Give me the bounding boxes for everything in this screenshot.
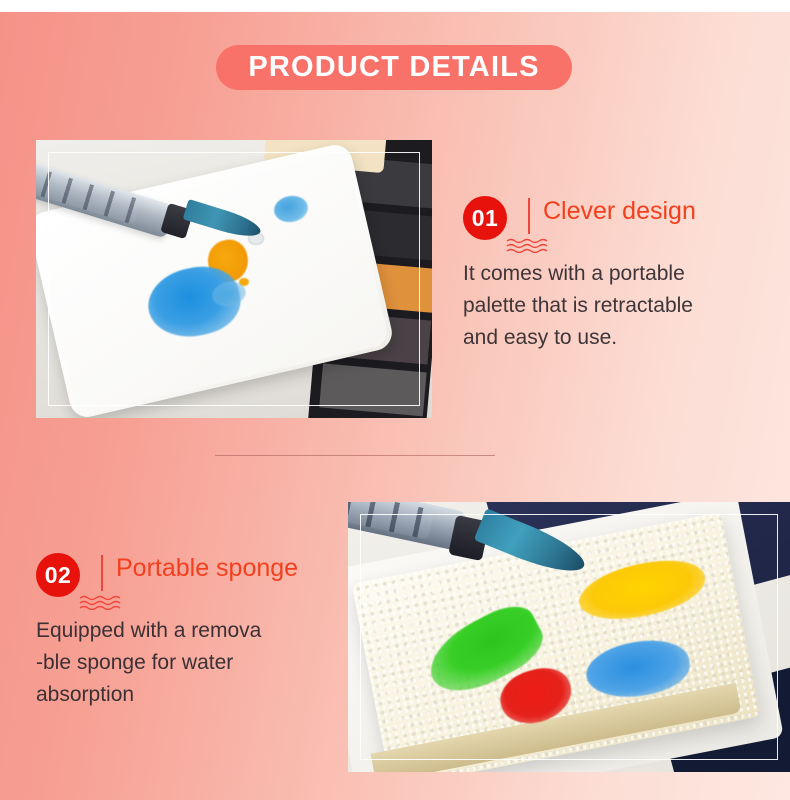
page-title-banner: PRODUCT DETAILS: [216, 45, 572, 90]
heading-divider-bar: [101, 555, 103, 591]
feature-number-badge-02: 02: [36, 553, 80, 597]
feature-body-line: palette that is retractable: [463, 290, 773, 322]
feature-block-01: 01 Clever design It comes with a portabl…: [463, 196, 773, 354]
feature-number-02: 02: [45, 562, 72, 589]
feature-body-02: Equipped with a remova -ble sponge for w…: [36, 615, 356, 711]
feature-number-badge-01: 01: [463, 196, 507, 240]
feature-body-line: and easy to use.: [463, 322, 773, 354]
feature-block-02: 02 Portable sponge Equipped with a remov…: [36, 553, 356, 711]
feature-body-line: It comes with a portable: [463, 258, 773, 290]
feature-title-02: Portable sponge: [116, 554, 298, 583]
sponge-photo: ater 美 術 固 体: [348, 502, 790, 772]
feature-body-line: -ble sponge for water: [36, 647, 356, 679]
feature-number-01: 01: [472, 205, 499, 232]
feature-body-01: It comes with a portable palette that is…: [463, 258, 773, 354]
feature-title-01: Clever design: [543, 197, 696, 226]
page-title: PRODUCT DETAILS: [248, 51, 539, 84]
feature-body-line: absorption: [36, 679, 356, 711]
heading-divider-bar: [528, 198, 530, 234]
section-divider: [215, 455, 495, 456]
feature-01-heading: 01 Clever design: [463, 196, 773, 254]
product-details-page: PRODUCT DETAILS 01: [0, 0, 790, 800]
feature-02-heading: 02 Portable sponge: [36, 553, 356, 611]
palette-photo: [36, 140, 432, 418]
paint-pan: [319, 363, 426, 416]
top-white-strip: [0, 0, 790, 12]
wave-squiggle-icon: [506, 238, 552, 253]
feature-body-line: Equipped with a remova: [36, 615, 356, 647]
wave-squiggle-icon: [79, 595, 125, 610]
